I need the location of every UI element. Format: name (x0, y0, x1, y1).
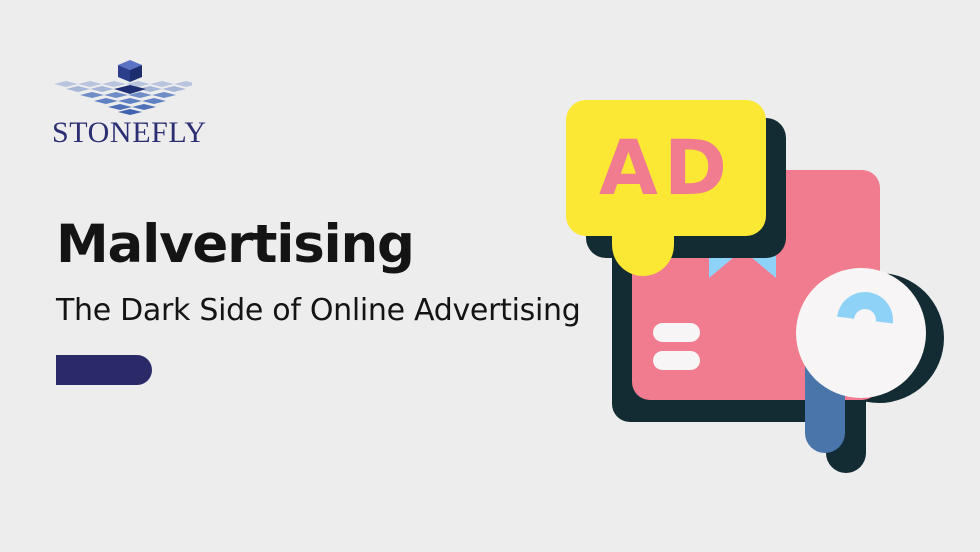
brand-name: STONEFLY (52, 118, 192, 148)
headline-block: Malvertising The Dark Side of Online Adv… (56, 218, 616, 385)
accent-bar (56, 355, 152, 385)
card-text-line (653, 323, 700, 342)
stonefly-cube-grid-logo-icon (52, 58, 192, 120)
card-text-line (653, 351, 700, 370)
brand-logo: STONEFLY (52, 58, 222, 158)
page-subtitle: The Dark Side of Online Advertising (56, 272, 616, 327)
slide-canvas: STONEFLY Malvertising The Dark Side of O… (0, 0, 980, 552)
malvertising-illustration: AD (556, 88, 956, 488)
ad-label: AD (566, 100, 766, 236)
page-title: Malvertising (56, 218, 616, 272)
